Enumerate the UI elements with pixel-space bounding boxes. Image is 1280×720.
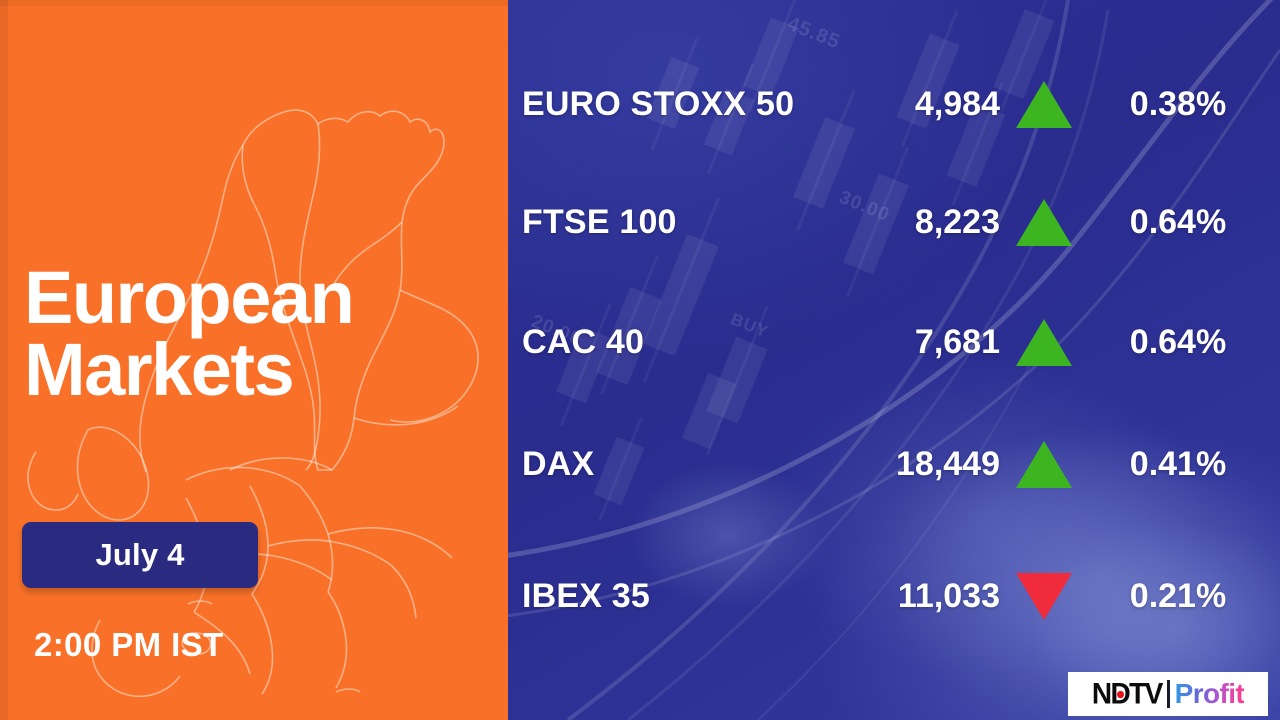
page-title: European Markets bbox=[24, 262, 494, 406]
timestamp: 2:00 PM IST bbox=[34, 626, 224, 664]
title-panel: European Markets July 4 2:00 PM IST bbox=[0, 0, 508, 720]
logo-profit-label: Profit bbox=[1175, 678, 1245, 710]
trend-up-icon bbox=[1014, 76, 1074, 132]
index-value: 4,984 bbox=[808, 85, 1000, 124]
date-badge[interactable]: July 4 bbox=[22, 522, 258, 588]
panel-left-edge bbox=[0, 0, 8, 720]
logo-ndtv-label: NDTV bbox=[1092, 677, 1162, 710]
index-change: 0.21% bbox=[1088, 577, 1268, 616]
trend-up-icon bbox=[1014, 314, 1074, 370]
date-badge-label: July 4 bbox=[95, 537, 184, 573]
table-row[interactable]: DAX 18,449 0.41% bbox=[508, 428, 1280, 500]
table-row[interactable]: FTSE 100 8,223 0.64% bbox=[508, 186, 1280, 258]
panel-top-edge bbox=[0, 0, 508, 6]
logo-ndtv-text: NDTV bbox=[1092, 677, 1162, 711]
title-line-1: European bbox=[24, 262, 494, 334]
index-name: CAC 40 bbox=[522, 323, 644, 362]
index-name: EURO STOXX 50 bbox=[522, 85, 794, 124]
markets-panel: 45.85 30.00 20.00 BUY EURO STOXX 50 4,98… bbox=[508, 0, 1280, 720]
index-change: 0.38% bbox=[1088, 85, 1268, 124]
ndtv-profit-logo[interactable]: NDTV Profit bbox=[1068, 672, 1268, 716]
logo-divider bbox=[1167, 680, 1170, 708]
index-change: 0.64% bbox=[1088, 323, 1268, 362]
index-name: DAX bbox=[522, 445, 594, 484]
index-change: 0.64% bbox=[1088, 203, 1268, 242]
market-index-list: EURO STOXX 50 4,984 0.38% FTSE 100 8,223… bbox=[508, 0, 1280, 720]
index-value: 18,449 bbox=[808, 445, 1000, 484]
table-row[interactable]: IBEX 35 11,033 0.21% bbox=[508, 560, 1280, 632]
index-value: 8,223 bbox=[808, 203, 1000, 242]
index-name: IBEX 35 bbox=[522, 577, 650, 616]
index-value: 11,033 bbox=[808, 577, 1000, 616]
market-infographic: 45.85 30.00 20.00 BUY EURO STOXX 50 4,98… bbox=[0, 0, 1280, 720]
index-value: 7,681 bbox=[808, 323, 1000, 362]
index-name: FTSE 100 bbox=[522, 203, 677, 242]
index-change: 0.41% bbox=[1088, 445, 1268, 484]
logo-red-dot-icon bbox=[1117, 691, 1124, 698]
table-row[interactable]: CAC 40 7,681 0.64% bbox=[508, 306, 1280, 378]
title-line-2: Markets bbox=[24, 334, 494, 406]
trend-up-icon bbox=[1014, 194, 1074, 250]
trend-down-icon bbox=[1014, 568, 1074, 624]
trend-up-icon bbox=[1014, 436, 1074, 492]
table-row[interactable]: EURO STOXX 50 4,984 0.38% bbox=[508, 68, 1280, 140]
